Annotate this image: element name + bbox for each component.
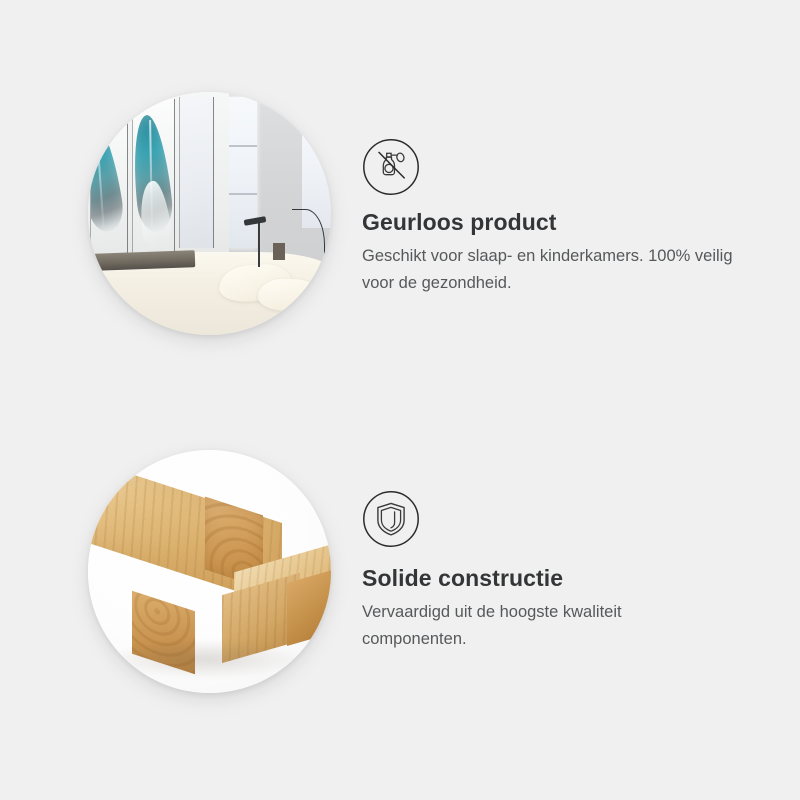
- no-fragrance-icon: [362, 138, 420, 196]
- teal-feather: [91, 119, 127, 234]
- bedroom-scene: [88, 92, 331, 335]
- floor-lamp-pole: [258, 218, 260, 267]
- circular-photo-frame: [88, 92, 331, 335]
- artwork-panel-right: [180, 97, 214, 248]
- feature-title: Solide constructie: [362, 563, 563, 593]
- feature-description: Geschikt voor slaap- en kinderkamers. 10…: [362, 243, 748, 297]
- feature-photo-solid-construction: [88, 450, 331, 693]
- feature-photo-odorless: [88, 92, 331, 335]
- artwork-panel-center: [133, 99, 174, 257]
- bedroom-window: [228, 97, 257, 248]
- feature-title: Geurloos product: [362, 207, 557, 237]
- product-features-page: Geurloos product Geschikt voor slaap- en…: [0, 0, 800, 800]
- feature-description: Vervaardigd uit de hoogste kwaliteit com…: [362, 599, 692, 653]
- wooden-blocks-scene: [88, 450, 331, 693]
- artwork-panel-left: [91, 99, 128, 257]
- circular-photo-frame: [88, 450, 331, 693]
- feather-triptych-artwork: [88, 92, 229, 272]
- wood-block-right-end: [287, 569, 331, 646]
- feature-block-odorless: Geurloos product Geschikt voor slaap- en…: [0, 55, 800, 415]
- contact-shadow: [107, 640, 301, 679]
- picture-frame: [273, 243, 285, 260]
- feature-block-solid-construction: Solide constructie Vervaardigd uit de ho…: [0, 413, 800, 773]
- shield-icon: [362, 490, 420, 548]
